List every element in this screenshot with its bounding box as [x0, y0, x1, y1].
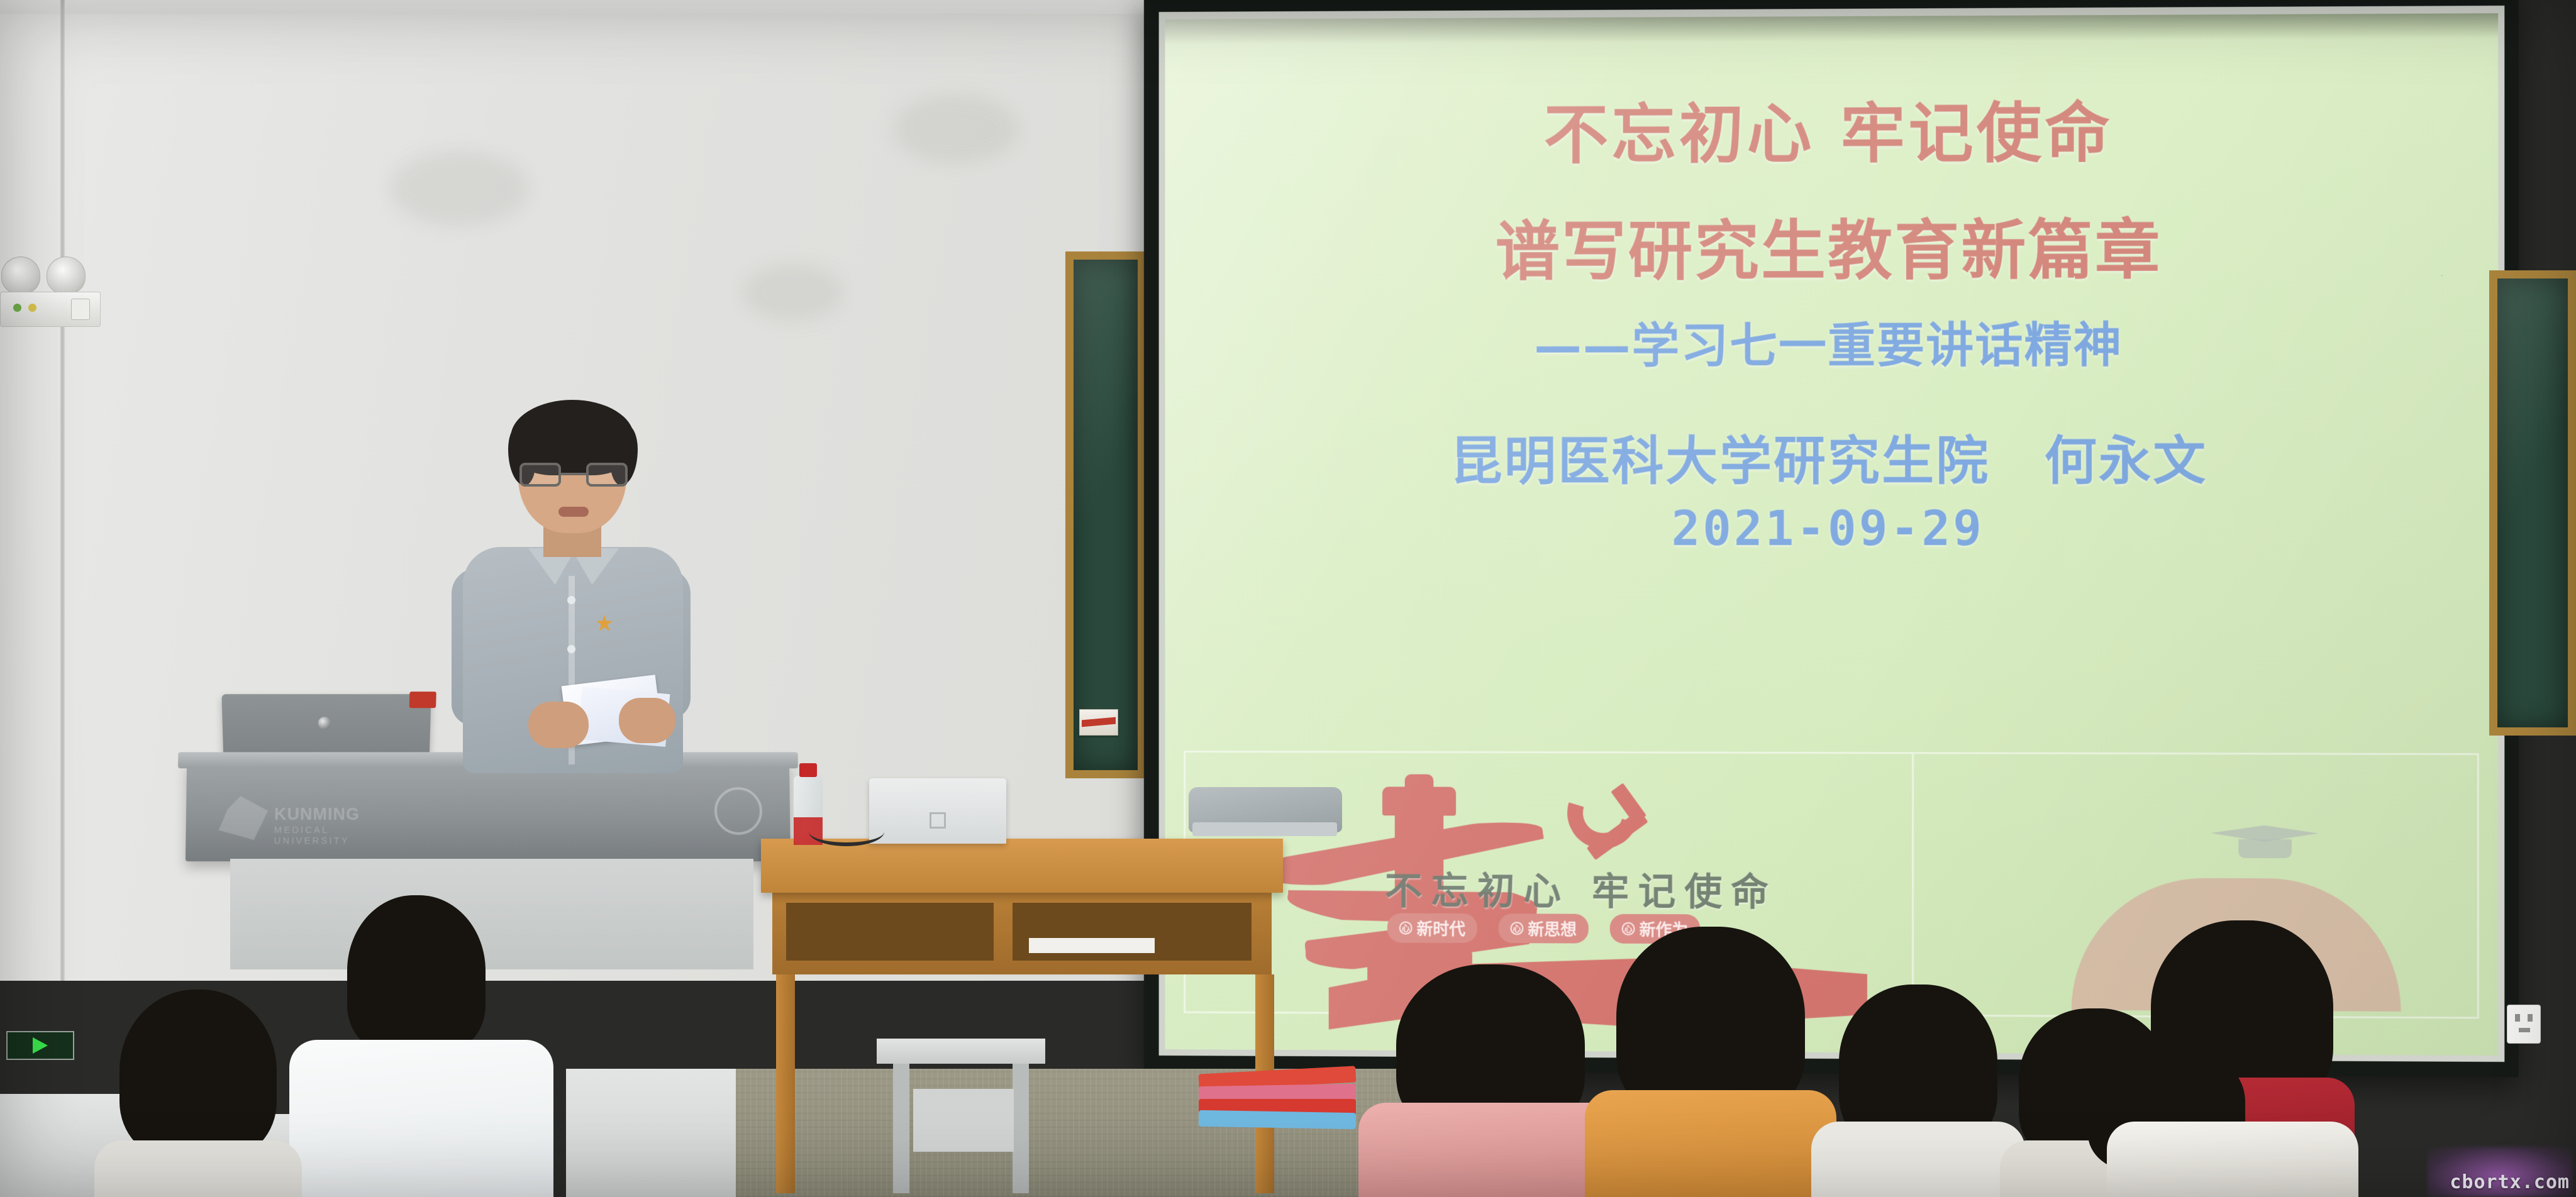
attendee-orange-top	[1585, 933, 1836, 1197]
projection-screen[interactable]: 不忘初心 牢记使命 谱写研究生教育新篇章 ——学习七一重要讲话精神 昆明医科大学…	[1165, 13, 2498, 1056]
slide-subtitle: ——学习七一重要讲话精神	[1165, 306, 2498, 377]
speaker	[448, 407, 693, 772]
slide-title-line2: 谱写研究生教育新篇章	[1165, 197, 2498, 294]
watermark: cbortx.com	[2450, 1171, 2570, 1193]
attendee-white-shirt	[289, 914, 553, 1197]
podium-logo-subtext: MEDICAL UNIVERSITY	[274, 825, 407, 846]
projection-screen-frame: 不忘初心 牢记使命 谱写研究生教育新篇章 ——学习七一重要讲话精神 昆明医科大学…	[1144, 0, 2519, 1077]
stool	[877, 1039, 1045, 1064]
exit-sign	[6, 1031, 74, 1060]
podium-emblem-icon	[714, 787, 763, 835]
wall-seam	[60, 0, 65, 981]
webcam-icon	[318, 717, 331, 729]
wall-smudge	[390, 151, 528, 226]
badge-pill: 心 新思想	[1499, 913, 1589, 943]
lecture-hall-scene: 不忘初心 牢记使命 谱写研究生教育新篇章 ——学习七一重要讲话精神 昆明医科大学…	[0, 0, 2576, 1197]
podium-logo-text: KUNMING	[274, 805, 360, 824]
shelf-papers	[1029, 938, 1155, 953]
attendee-white-tee	[1811, 990, 2025, 1197]
presentation-slide: 不忘初心 牢记使命 谱写研究生教育新篇章 ——学习七一重要讲话精神 昆明医科大学…	[1165, 13, 2498, 1056]
slide-title-line1: 不忘初心 牢记使命	[1165, 79, 2498, 178]
emergency-light-icon	[0, 256, 106, 331]
chalkboard-right	[2489, 270, 2576, 736]
power-cable	[809, 817, 884, 846]
graduation-cap-icon	[2211, 825, 2318, 868]
crest-icon	[218, 796, 268, 840]
heart-icon: 心	[1511, 922, 1524, 935]
banner-divider	[1912, 754, 1914, 1014]
front-desk	[566, 1069, 736, 1197]
ceiling-edge	[0, 0, 1157, 14]
slide-date: 2021-09-29	[1165, 500, 2498, 557]
arrow-icon	[33, 1037, 48, 1054]
surface-tablet[interactable]	[869, 778, 1006, 844]
wooden-desk	[761, 839, 1283, 893]
badge-label: 新时代	[1417, 917, 1465, 940]
wall-outlet[interactable]	[2507, 1005, 2541, 1044]
wall-smudge	[742, 264, 843, 321]
slide-organization: 昆明医科大学研究生院 何永文	[1165, 418, 2498, 494]
folder-stack	[1199, 1070, 1356, 1133]
wall-smudge	[893, 94, 1019, 163]
glasses-icon	[518, 463, 629, 488]
badge-pill: 心 新时代	[1387, 913, 1477, 943]
status-led	[409, 692, 436, 708]
folder-item	[1199, 1110, 1356, 1129]
tablet-logo-icon	[930, 812, 946, 829]
banner-calligraphy: 不忘初心 牢记使命	[1385, 861, 1777, 917]
hammer-sickle-icon	[1563, 772, 1657, 866]
attendee-dark-hair-1	[94, 996, 302, 1197]
podium-logo: KUNMING MEDICAL UNIVERSITY	[218, 793, 408, 842]
podium: KUNMING MEDICAL UNIVERSITY	[186, 761, 791, 861]
badge-label: 新思想	[1528, 917, 1577, 940]
attendee-front-white	[2088, 1052, 2352, 1197]
heart-icon: 心	[1399, 922, 1413, 935]
chalkboard-left	[1065, 251, 1146, 778]
chalk-box	[1079, 709, 1118, 736]
